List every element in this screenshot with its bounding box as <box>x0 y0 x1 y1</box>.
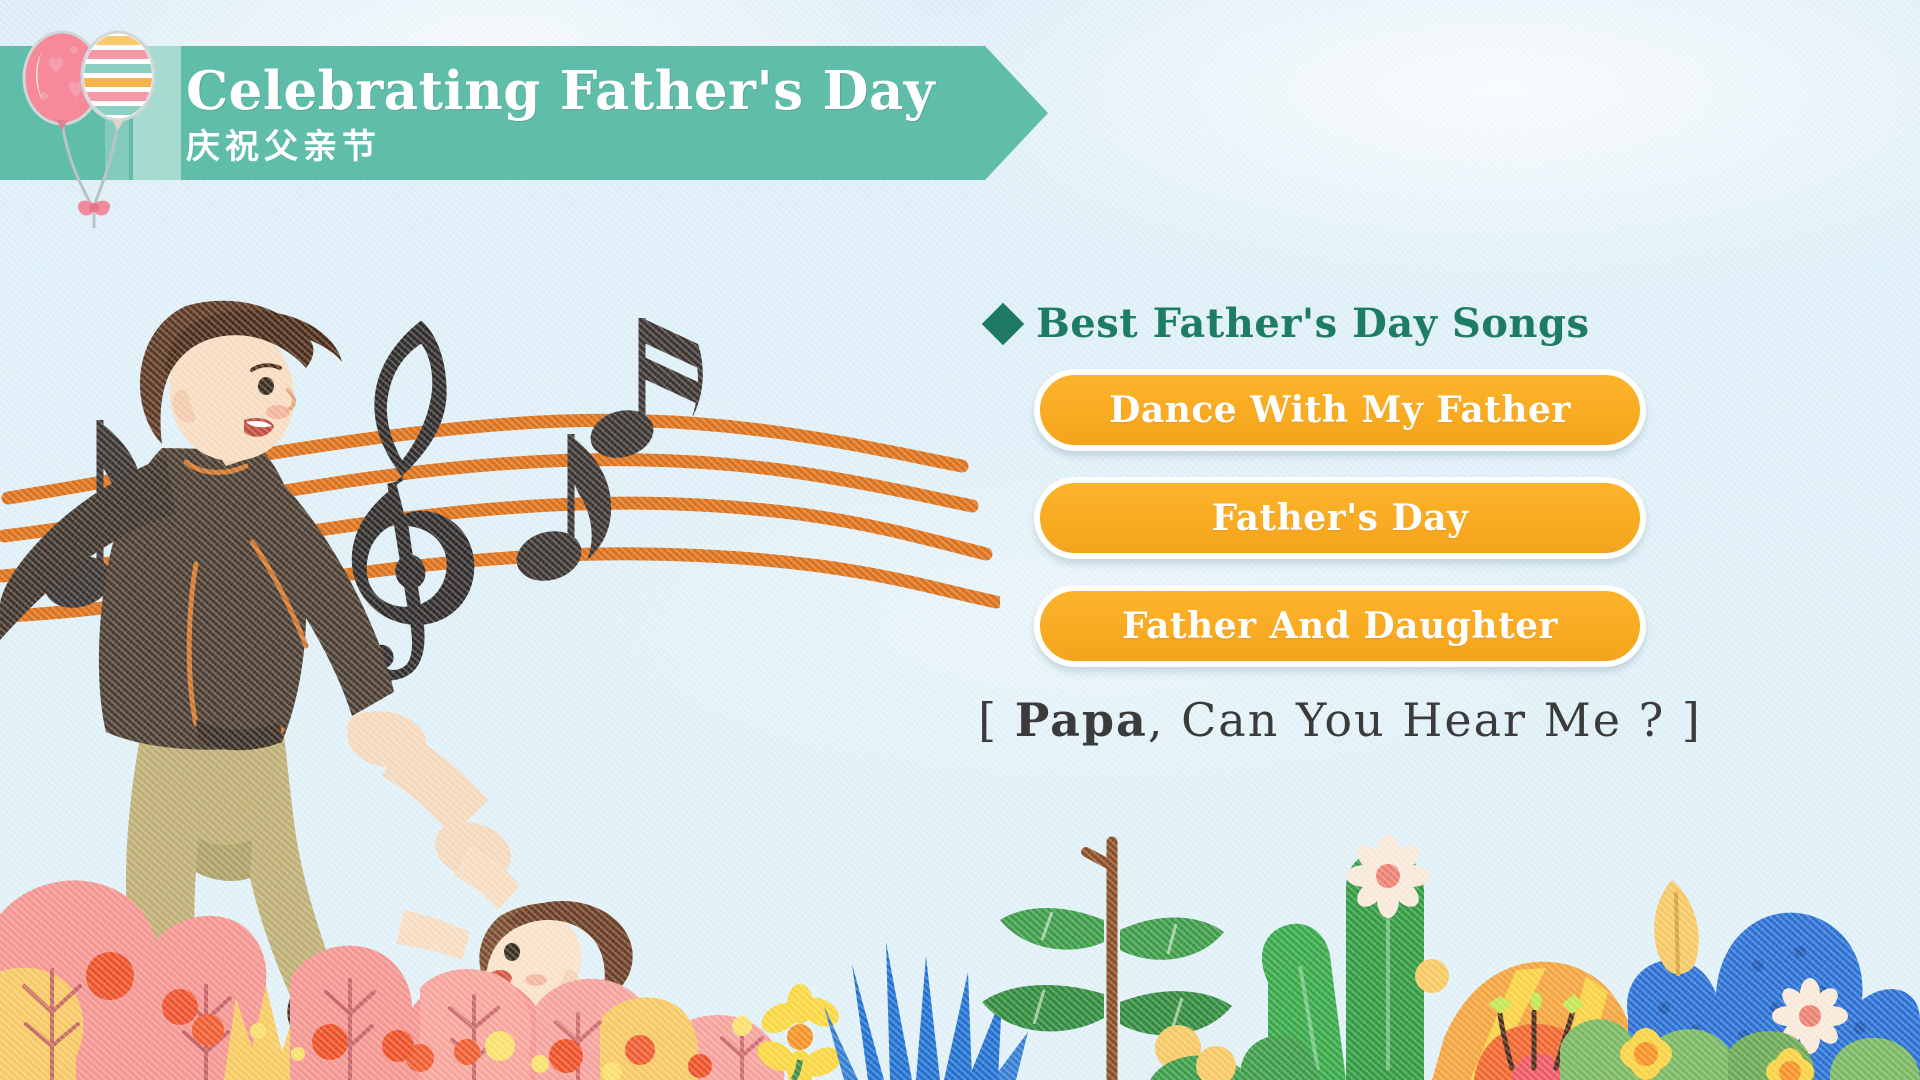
song-button-dance-with-my-father[interactable]: Dance With My Father <box>1034 369 1646 451</box>
beamed-note-icon <box>585 318 703 465</box>
quote-caption: [ Papa, Can You Hear Me ? ] <box>960 693 1720 747</box>
song-button-label: Father's Day <box>1212 497 1469 539</box>
quote-open-bracket: [ <box>978 693 998 747</box>
page-title-en: Celebrating Father's Day <box>186 60 1006 122</box>
slide-canvas: Celebrating Father's Day 庆祝父亲节 <box>0 0 1920 1080</box>
balloons-svg <box>18 16 158 236</box>
quote-close-bracket: ] <box>1682 693 1702 747</box>
song-button-father-and-daughter[interactable]: Father And Daughter <box>1034 585 1646 667</box>
bottom-foliage-decoration <box>0 780 1920 1080</box>
header-banner: Celebrating Father's Day 庆祝父亲节 <box>0 46 1060 180</box>
songs-heading: Best Father's Day Songs <box>988 300 1720 347</box>
quote-emphasis: Papa <box>1015 693 1148 747</box>
header-text-group: Celebrating Father's Day 庆祝父亲节 <box>186 60 1006 170</box>
page-title-zh: 庆祝父亲节 <box>186 124 1006 170</box>
song-button-label: Dance With My Father <box>1109 389 1571 431</box>
song-button-fathers-day[interactable]: Father's Day <box>1034 477 1646 559</box>
quote-rest: , Can You Hear Me ? <box>1148 693 1665 747</box>
yellow-berry <box>1196 1046 1236 1080</box>
foliage-svg <box>0 780 1920 1080</box>
diamond-bullet-icon <box>982 302 1024 344</box>
songs-heading-label: Best Father's Day Songs <box>1036 300 1590 347</box>
song-button-label: Father And Daughter <box>1122 605 1558 647</box>
balloons-icon <box>18 16 158 236</box>
yellow-berry <box>1415 959 1449 993</box>
songs-panel: Best Father's Day Songs Dance With My Fa… <box>960 300 1720 747</box>
ribbon-bow-icon <box>78 201 110 228</box>
